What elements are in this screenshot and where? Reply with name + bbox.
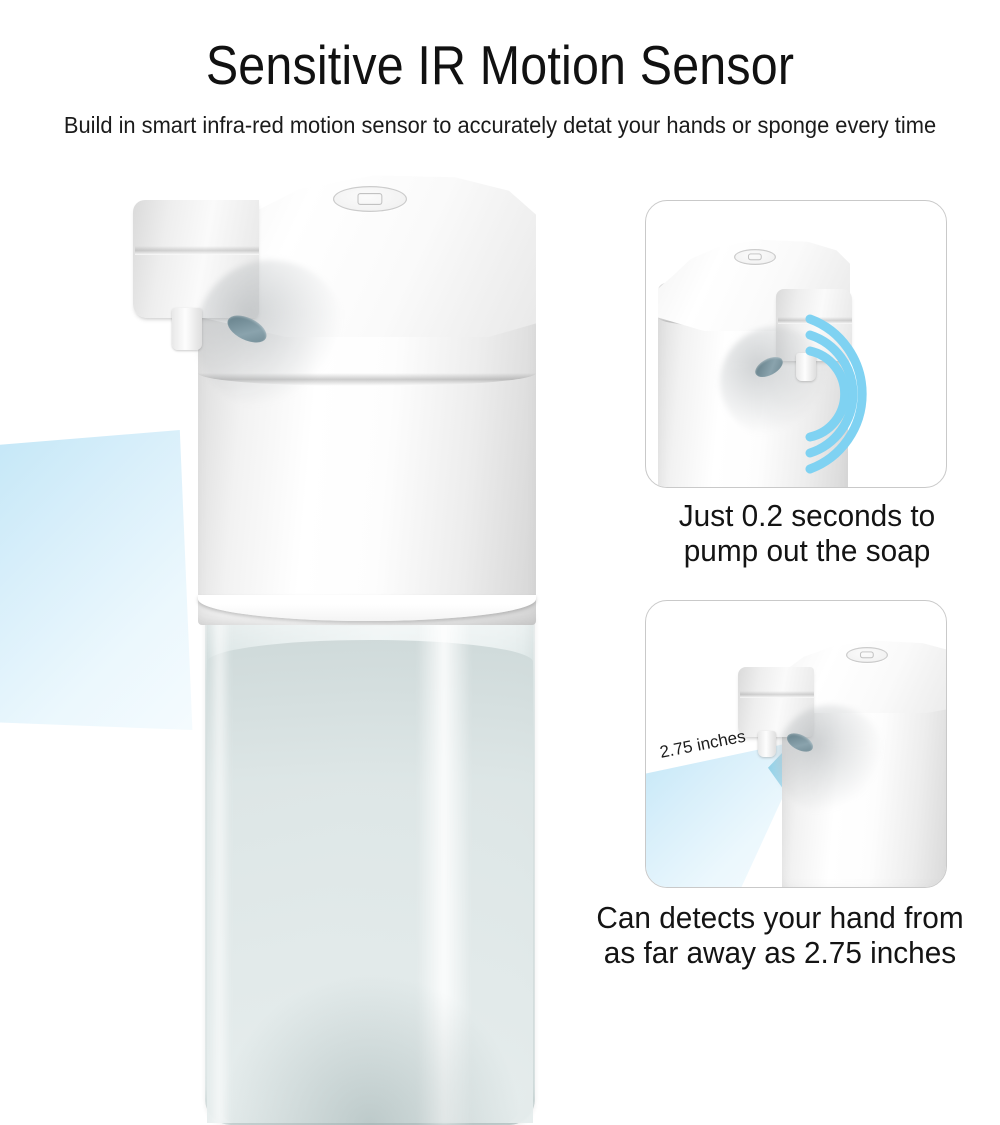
panel-pump-speed: [645, 200, 947, 488]
soap-tank: [205, 610, 535, 1125]
panel-bottom-arm-seam: [740, 691, 814, 698]
caption-detection-range-line2: as far away as 2.75 inches: [569, 935, 991, 970]
caption-detection-range: Can detects your hand from as far away a…: [569, 900, 991, 970]
main-product-image: [0, 140, 620, 1000]
infographic-stage: Sensitive IR Motion Sensor Build in smar…: [0, 0, 1000, 1000]
top-indicator-button[interactable]: [333, 186, 407, 212]
caption-pump-speed-line2: pump out the soap: [622, 533, 993, 568]
tank-base-shading: [218, 971, 522, 1125]
spout-neck-shading: [196, 260, 346, 410]
caption-pump-speed: Just 0.2 seconds to pump out the soap: [622, 498, 993, 568]
page-title: Sensitive IR Motion Sensor: [60, 34, 940, 96]
caption-detection-range-line1: Can detects your hand from: [569, 900, 991, 935]
panel-bottom-nozzle: [758, 731, 776, 757]
soap-nozzle: [172, 308, 202, 350]
panel-bottom-neck-shading: [776, 705, 886, 815]
spout-arm-seam: [135, 246, 259, 255]
caption-pump-speed-line1: Just 0.2 seconds to: [622, 498, 993, 533]
signal-waves-icon: [758, 341, 898, 481]
page-subtitle: Build in smart infra-red motion sensor t…: [35, 110, 965, 140]
panel-bottom-product: 2.75 inches: [646, 601, 946, 887]
panel-top-indicator: [734, 249, 776, 265]
panel-bottom-indicator: [846, 647, 888, 663]
panel-detection-range: 2.75 inches: [645, 600, 947, 888]
panel-top-product: [645, 223, 947, 488]
